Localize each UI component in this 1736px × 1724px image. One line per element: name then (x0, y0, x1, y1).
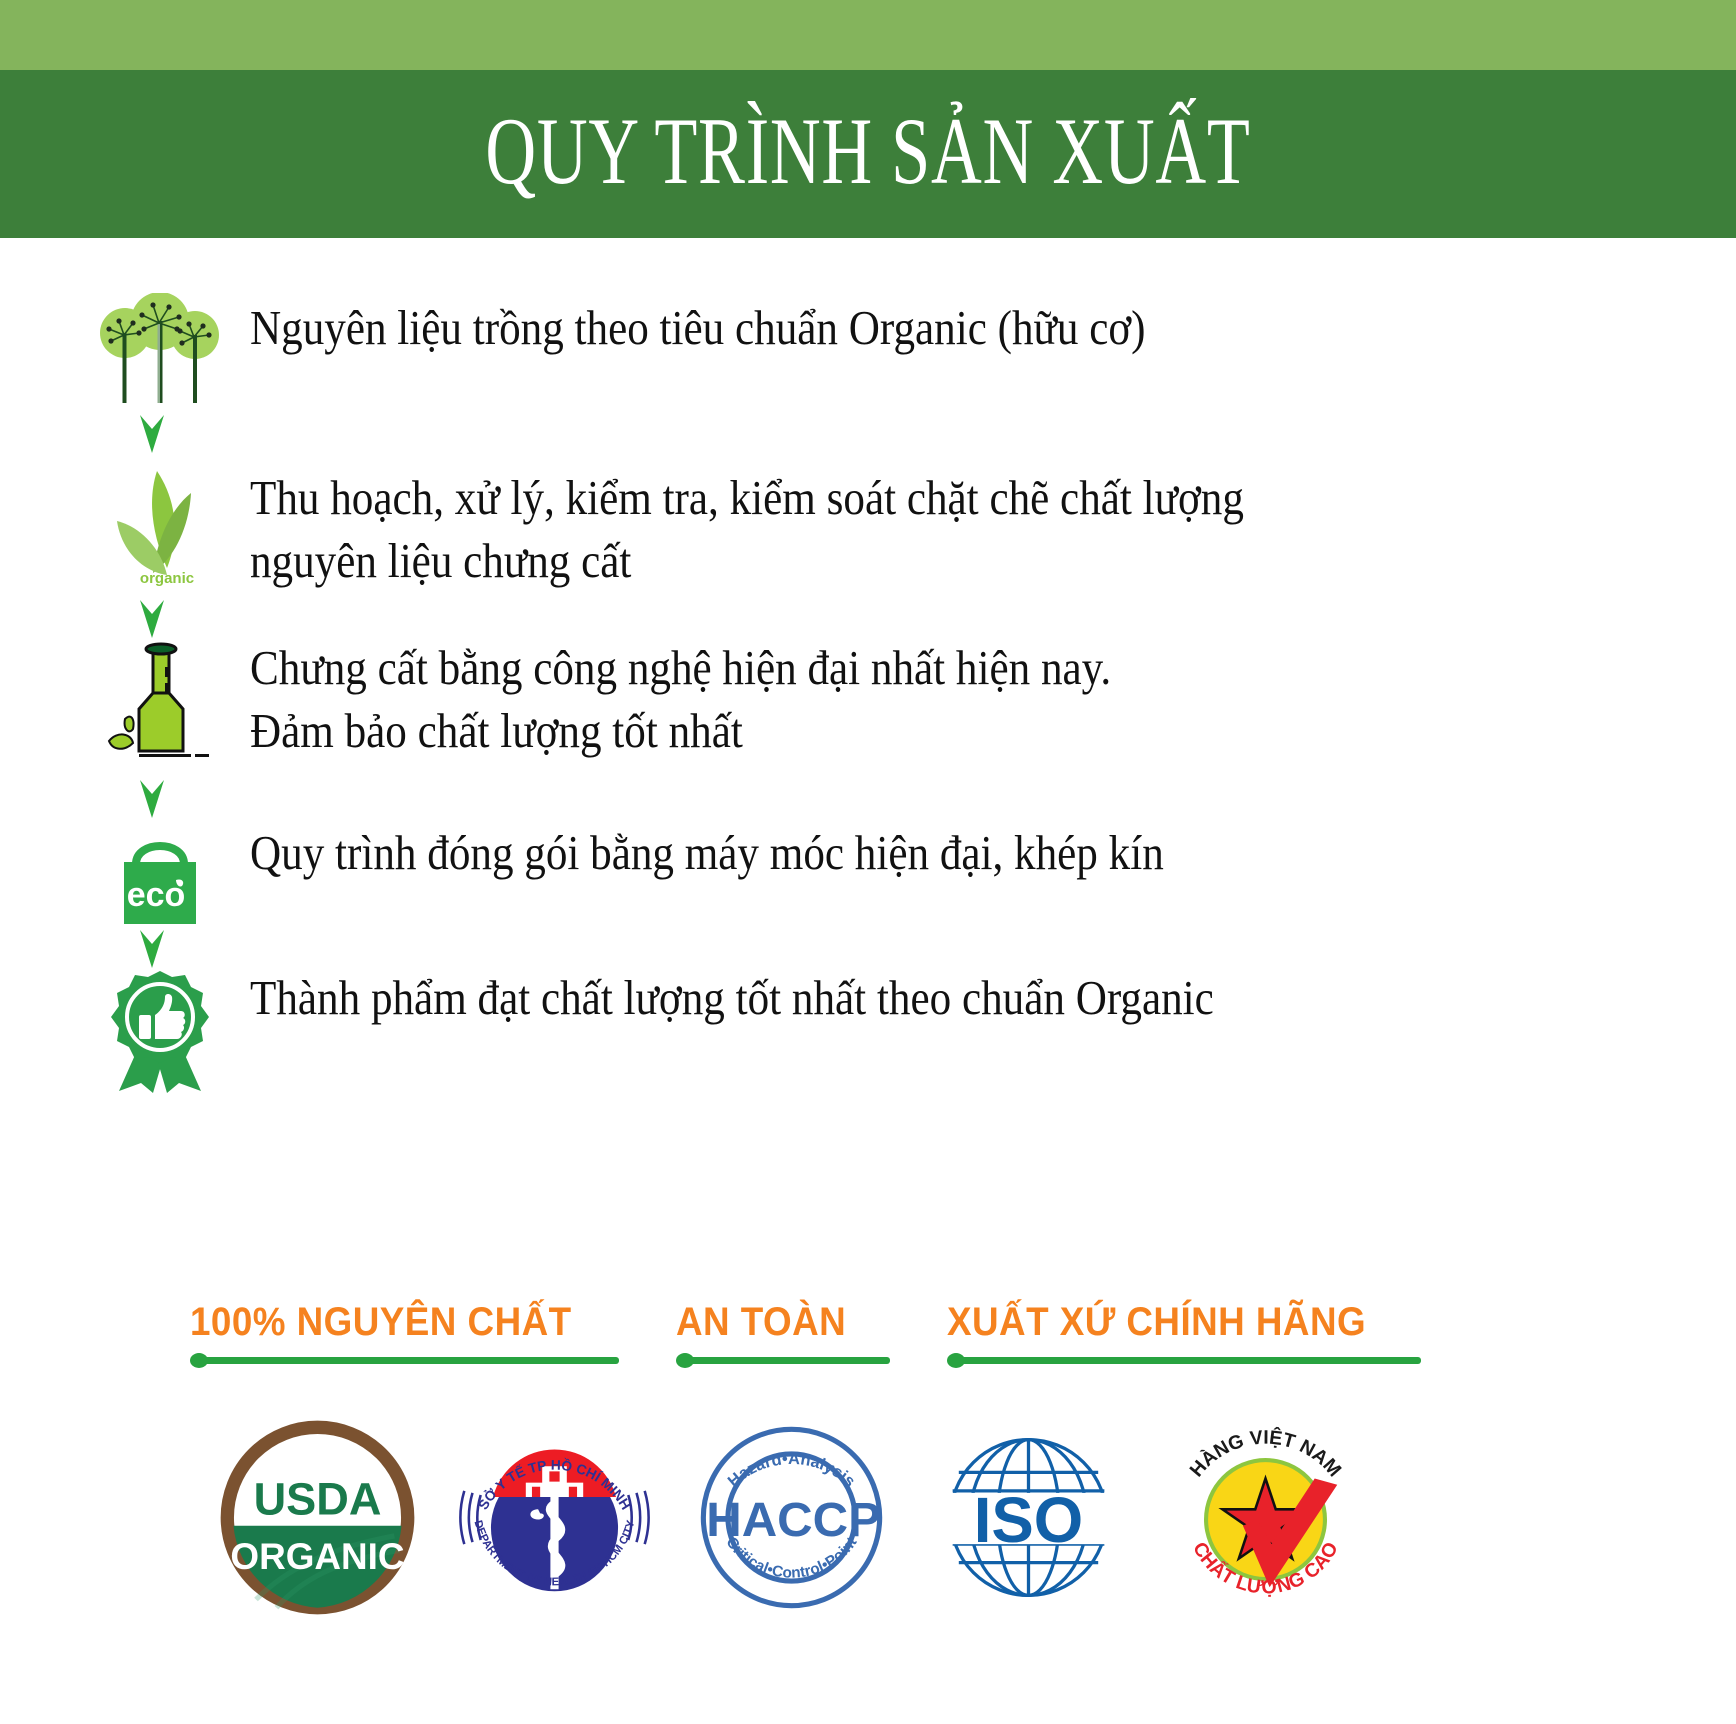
arrow-down-icon-1 (137, 413, 167, 461)
haccp-arc-top: Hazard•Analysis (725, 1450, 859, 1491)
feature-label-2: AN TOÀN (676, 1300, 846, 1345)
feature-highlights: 100% NGUYÊN CHẤT AN TOÀN XUẤT XỨ CHÍNH H… (0, 1300, 1736, 1367)
hang-viet-nam-chat-luong-cao-logo: HÀNG VIỆT NAM CHẤT LƯỢNG CAO (1163, 1410, 1368, 1625)
page-title: QUY TRÌNH SẢN XUẤT (485, 104, 1250, 205)
oil-bottle-icon (90, 633, 230, 763)
process-step-5-text: Thành phẩm đạt chất lượng tốt nhất theo … (250, 963, 1214, 1030)
process-step-2: organic Thu hoạch, xử lý, kiểm tra, kiểm… (90, 463, 1379, 593)
feature-item-3: XUẤT XỨ CHÍNH HÃNG (947, 1300, 1422, 1367)
feature-item-2: AN TOÀN (676, 1300, 891, 1367)
usda-line-1: USDA (254, 1473, 382, 1524)
certification-logos: USDA ORGANIC (0, 1410, 1736, 1625)
haccp-logo: HACCP Hazard•Analysis Critical•Control•P… (689, 1410, 894, 1625)
process-step-3: Chưng cất bằng công nghệ hiện đại nhất h… (90, 633, 1229, 763)
iso-center: ISO (974, 1485, 1083, 1556)
feature-label-1: 100% NGUYÊN CHẤT (190, 1300, 572, 1345)
process-step-5: Thành phẩm đạt chất lượng tốt nhất theo … (90, 963, 1345, 1093)
organic-leaves-icon: organic (90, 463, 230, 593)
process-step-4-text: Quy trình đóng gói bằng máy móc hiện đại… (250, 818, 1164, 885)
process-step-4: eco Quy trình đóng gói bằng máy móc hiện… (90, 818, 1288, 938)
usda-line-2: ORGANIC (230, 1536, 404, 1577)
department-of-health-hcmc-logo: SỞ Y TẾ TP HỒ CHÍ MINH DEPARTMENT OF HEA… (452, 1410, 657, 1625)
process-step-3-text: Chưng cất bằng công nghệ hiện đại nhất h… (250, 633, 1111, 762)
organic-icon-label: organic (140, 570, 194, 587)
feature-rule-3 (947, 1353, 1422, 1367)
thumbs-up-badge-icon (90, 963, 230, 1093)
feature-rule-1 (190, 1353, 620, 1367)
infographic-page: QUY TRÌNH SẢN XUẤT (0, 0, 1736, 1724)
iso-logo: ISO (926, 1410, 1131, 1625)
usda-organic-logo: USDA ORGANIC (215, 1410, 420, 1625)
process-step-2-text: Thu hoạch, xử lý, kiểm tra, kiểm soát ch… (250, 463, 1244, 592)
eco-bag-icon: eco (90, 818, 230, 938)
header-band: QUY TRÌNH SẢN XUẤT (0, 70, 1736, 238)
process-step-1: Nguyên liệu trồng theo tiêu chuẩn Organi… (90, 293, 1268, 413)
three-trees-icon (90, 293, 230, 413)
feature-rule-2 (676, 1353, 891, 1367)
process-step-1-text: Nguyên liệu trồng theo tiêu chuẩn Organi… (250, 293, 1146, 360)
header-accent-band (0, 0, 1736, 70)
feature-label-3: XUẤT XỨ CHÍNH HÃNG (947, 1300, 1366, 1345)
feature-item-1: 100% NGUYÊN CHẤT (190, 1300, 620, 1367)
